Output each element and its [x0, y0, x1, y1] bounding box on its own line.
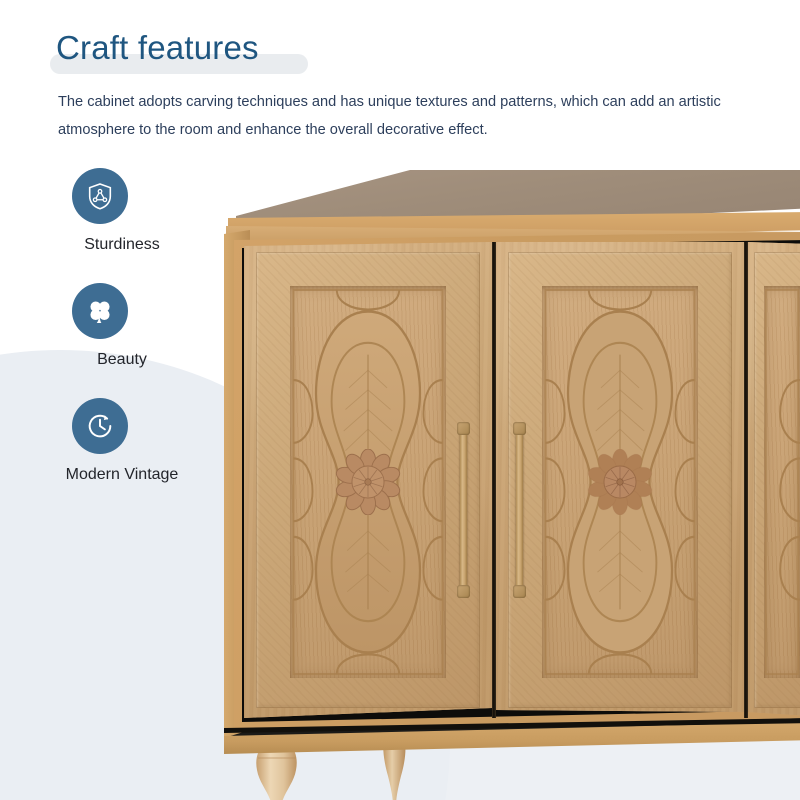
- rosette-icon: [587, 449, 653, 515]
- handle-cap-bottom: [457, 585, 470, 598]
- door-bevel: [508, 252, 732, 708]
- rosette-icon: [335, 449, 401, 515]
- door-handle-right[interactable]: [516, 430, 523, 590]
- carved-field: [542, 286, 698, 678]
- door-handle-left[interactable]: [460, 430, 467, 590]
- handle-cap-top: [457, 422, 470, 435]
- feature-label: Beauty: [0, 351, 200, 369]
- feature-item-modern-vintage: Modern Vintage: [0, 398, 200, 513]
- cabinet-door-right-partial[interactable]: [748, 242, 800, 718]
- feature-label: Sturdiness: [0, 236, 200, 254]
- feature-item-beauty: Beauty: [0, 283, 200, 398]
- door-bevel: [754, 252, 800, 708]
- feature-list: Sturdiness Beauty: [0, 168, 210, 513]
- carved-flower-rosette: [335, 449, 401, 515]
- door-seam-left: [492, 242, 496, 718]
- page-subtitle: The cabinet adopts carving techniques an…: [58, 88, 748, 144]
- handle-cap-bottom: [513, 585, 526, 598]
- page-title: Craft features: [56, 26, 259, 70]
- feature-label: Modern Vintage: [0, 466, 200, 484]
- cabinet-door-center[interactable]: [496, 242, 744, 718]
- four-leaf-clover-icon: [85, 296, 115, 326]
- handle-cap-top: [513, 422, 526, 435]
- feature-badge: [72, 168, 128, 224]
- feature-badge: [72, 283, 128, 339]
- feature-item-sturdiness: Sturdiness: [0, 168, 200, 283]
- cabinet-door-left[interactable]: [244, 242, 492, 718]
- page-title-wrap: Craft features: [56, 26, 259, 72]
- product-feature-panel: Craft features The cabinet adopts carvin…: [0, 0, 800, 800]
- cabinet-doors: [244, 242, 800, 718]
- door-seam-right: [744, 242, 748, 718]
- shield-check-icon: [85, 181, 115, 211]
- carved-field: [764, 286, 800, 678]
- quatrefoil-carving: [764, 286, 800, 678]
- product-image: [196, 170, 800, 770]
- carved-flower-rosette: [587, 449, 653, 515]
- clock-history-icon: [85, 411, 115, 441]
- door-bevel: [256, 252, 480, 708]
- carved-field: [290, 286, 446, 678]
- feature-badge: [72, 398, 128, 454]
